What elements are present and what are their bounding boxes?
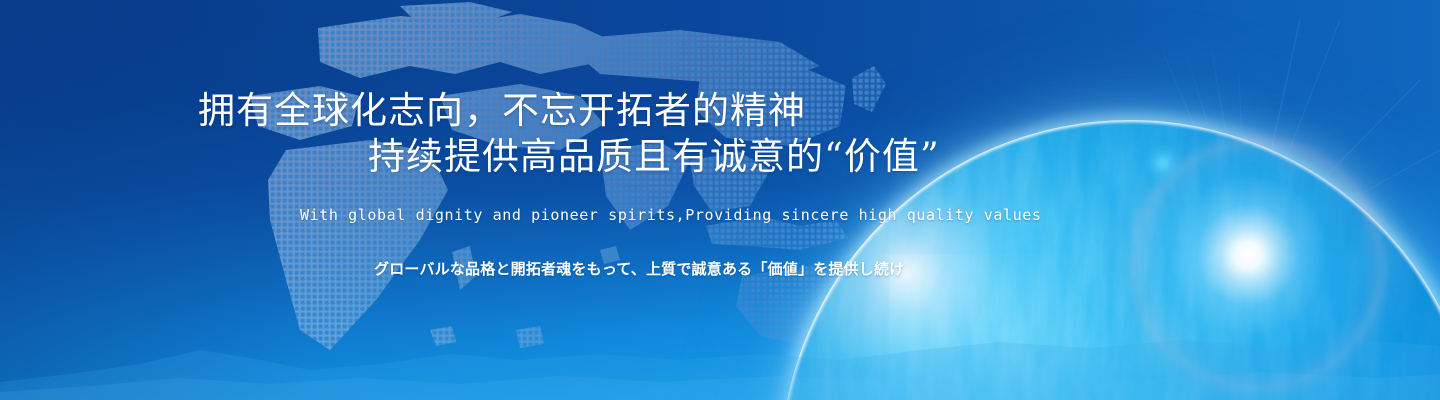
mountain-ridge-silhouette xyxy=(0,320,1440,400)
hero-banner: 拥有全球化志向，不忘开拓者的精神 持续提供高品质且有诚意的“价值” With g… xyxy=(0,0,1440,400)
sun-burst-icon xyxy=(1248,255,1250,257)
lens-flare-dot-icon xyxy=(1163,163,1165,165)
